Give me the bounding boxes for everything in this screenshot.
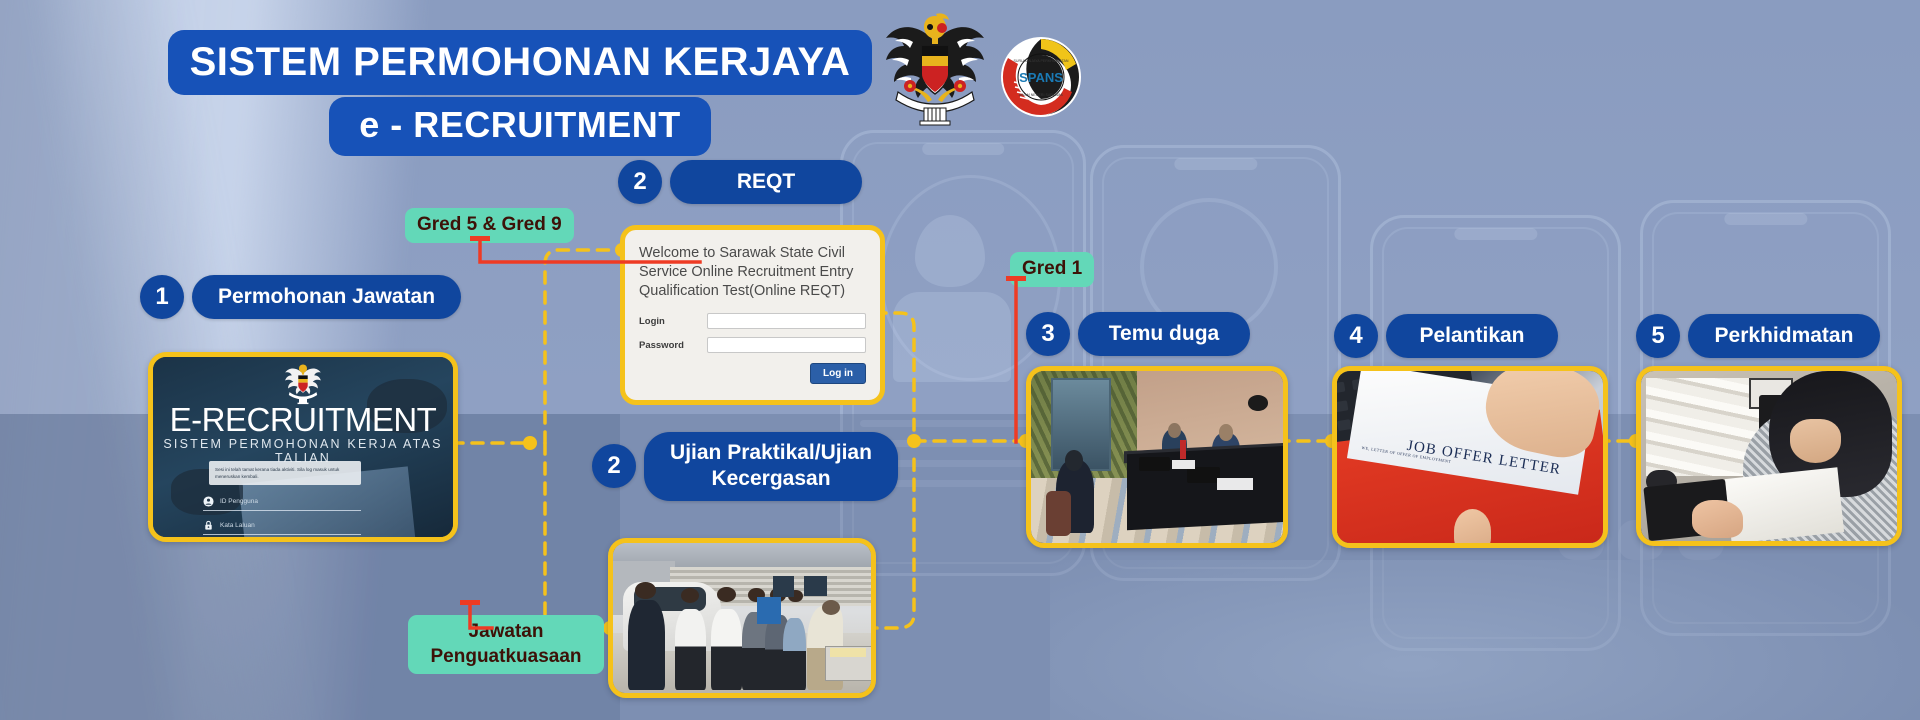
step-3-label: Temu duga bbox=[1078, 312, 1250, 356]
card-appointment-photo[interactable]: WE, LETTER OF OFFER OF EMPLOYMENT JOB OF… bbox=[1332, 366, 1608, 548]
card-erecruitment-screenshot[interactable]: E-RECRUITMENT SISTEM PERMOHONAN KERJA AT… bbox=[148, 352, 458, 542]
background-avatar-body bbox=[893, 292, 1011, 382]
step-5-label: Perkhidmatan bbox=[1688, 314, 1880, 358]
step-3-temu-duga[interactable]: 3 Temu duga bbox=[1026, 312, 1250, 356]
spans-logo-text: SPANS bbox=[1019, 70, 1063, 85]
practical-photo bbox=[613, 543, 871, 693]
lock-icon bbox=[203, 520, 214, 531]
office-service-photo bbox=[1641, 371, 1897, 541]
spans-logo-icon: SPANS SURUHANJAYA PERKHIDMATAN AWAM NEGE… bbox=[1000, 36, 1082, 118]
step-1-number: 1 bbox=[140, 275, 184, 319]
erec-password-field[interactable]: Kata Laluan bbox=[203, 517, 361, 535]
step-1-label: Permohonan Jawatan bbox=[192, 275, 461, 319]
sarawak-state-crest-icon bbox=[880, 8, 990, 126]
step-2-number: 2 bbox=[618, 160, 662, 204]
reqt-password-label: Password bbox=[639, 340, 707, 351]
tag-gred-5-9: Gred 5 & Gred 9 bbox=[405, 208, 574, 243]
erec-user-label: ID Pengguna bbox=[220, 498, 258, 505]
interview-photo bbox=[1031, 371, 1283, 543]
step-4-number: 4 bbox=[1334, 314, 1378, 358]
step-4-pelantikan[interactable]: 4 Pelantikan bbox=[1334, 314, 1558, 358]
reqt-login-input[interactable] bbox=[707, 313, 866, 329]
erec-user-field[interactable]: ID Pengguna bbox=[203, 493, 361, 511]
page-title: SISTEM PERMOHONAN KERJAYA e - RECRUITMEN… bbox=[160, 30, 880, 156]
step-5-number: 5 bbox=[1636, 314, 1680, 358]
erecruitment-screen: E-RECRUITMENT SISTEM PERMOHONAN KERJA AT… bbox=[153, 357, 453, 537]
infographic-stage: SISTEM PERMOHONAN KERJAYA e - RECRUITMEN… bbox=[0, 0, 1920, 720]
card-reqt-login[interactable]: Welcome to Sarawak State Civil Service O… bbox=[620, 225, 885, 405]
svg-text:AWAM NEGERI SARAWAK: AWAM NEGERI SARAWAK bbox=[1019, 93, 1064, 97]
step-3-number: 3 bbox=[1026, 312, 1070, 356]
step-2-label: REQT bbox=[670, 160, 862, 204]
title-line-1: SISTEM PERMOHONAN KERJAYA bbox=[168, 30, 873, 95]
step-2-reqt[interactable]: 2 REQT bbox=[618, 160, 862, 204]
card-service-photo[interactable] bbox=[1636, 366, 1902, 546]
erec-crest-icon bbox=[283, 361, 323, 405]
step-2b-ujian-praktikal[interactable]: 2 Ujian Praktikal/Ujian Kecergasan bbox=[592, 432, 898, 501]
user-circle-icon bbox=[203, 496, 214, 507]
card-interview-photo[interactable] bbox=[1026, 366, 1288, 548]
job-offer-letter-photo: WE, LETTER OF OFFER OF EMPLOYMENT JOB OF… bbox=[1337, 371, 1603, 543]
reqt-login-label: Login bbox=[639, 316, 707, 327]
reqt-button-row: Log in bbox=[625, 355, 880, 394]
card-practical-test-photo[interactable] bbox=[608, 538, 876, 698]
reqt-login-button[interactable]: Log in bbox=[810, 363, 866, 384]
tag-gred-1: Gred 1 bbox=[1010, 252, 1094, 287]
title-line-2: e - RECRUITMENT bbox=[329, 97, 711, 156]
step-5-perkhidmatan[interactable]: 5 Perkhidmatan bbox=[1636, 314, 1880, 358]
step-2b-number: 2 bbox=[592, 444, 636, 488]
step-4-label: Pelantikan bbox=[1386, 314, 1558, 358]
erec-password-label: Kata Laluan bbox=[220, 522, 255, 529]
step-2b-label: Ujian Praktikal/Ujian Kecergasan bbox=[644, 432, 898, 501]
erec-heading: E-RECRUITMENT bbox=[153, 401, 453, 439]
tag-jawatan-penguatkuasaan: Jawatan Penguatkuasaan bbox=[408, 615, 604, 674]
svg-text:SURUHANJAYA PERKHIDMATAN: SURUHANJAYA PERKHIDMATAN bbox=[1013, 59, 1068, 63]
reqt-welcome-text: Welcome to Sarawak State Civil Service O… bbox=[625, 230, 880, 307]
reqt-password-row: Password bbox=[625, 335, 880, 355]
erec-session-notice: Sesi ini telah tamat kerana tiada aktivi… bbox=[209, 461, 361, 485]
reqt-login-row: Login bbox=[625, 311, 880, 331]
step-1-permohonan-jawatan[interactable]: 1 Permohonan Jawatan bbox=[140, 275, 461, 319]
background-bottom-glow bbox=[1050, 560, 1920, 720]
reqt-password-input[interactable] bbox=[707, 337, 866, 353]
